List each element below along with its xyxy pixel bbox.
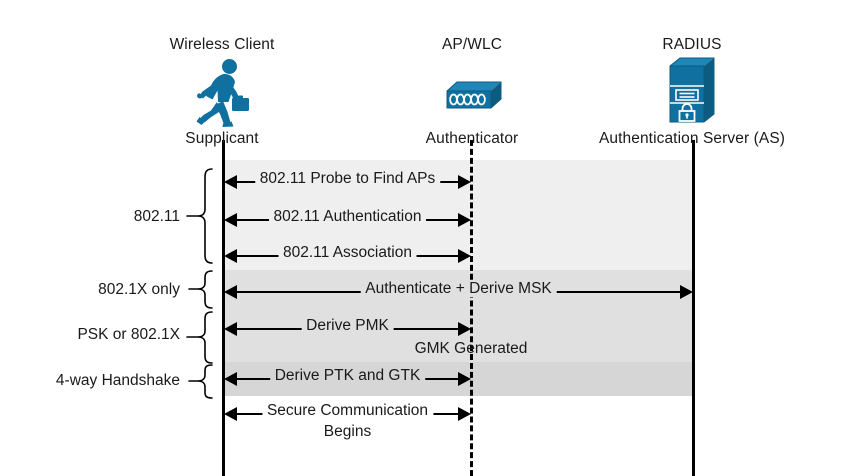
actor-title-supplicant: Wireless Client: [122, 36, 322, 54]
message-label: 802.11 Association: [278, 244, 417, 261]
lifeline-authentication-server: [692, 140, 695, 476]
message-802-11-authentication: 802.11 Authentication: [224, 211, 471, 229]
message-secure-communication: Secure Communication: [224, 405, 471, 423]
actor-role-authentication-server: Authentication Server (AS): [583, 130, 801, 148]
actor-role-supplicant: Supplicant: [142, 130, 302, 148]
arrow-head-right: [458, 175, 471, 189]
message-derive-ptk-and-gtk: Derive PTK and GTK: [224, 370, 471, 388]
message-label: Secure Communication: [262, 402, 433, 419]
server-tower-lock-icon: [664, 56, 722, 128]
phase-label-802-11: 802.11: [20, 208, 180, 226]
phase-label-4-way-handshake: 4-way Handshake: [8, 372, 180, 390]
phase-label-802-1x-only: 802.1X only: [20, 281, 180, 299]
access-point-switch-icon: [439, 80, 503, 120]
message-derive-pmk: Derive PMK: [224, 320, 471, 338]
actor-title-authenticator: AP/WLC: [372, 36, 572, 54]
phase-brace-4-way-handshake: [186, 364, 214, 400]
phase-label-psk-or-802-1x: PSK or 802.1X: [20, 326, 180, 344]
arrow-head-right: [458, 213, 471, 227]
actor-title-authentication-server: RADIUS: [592, 36, 792, 54]
arrow-head-right: [458, 372, 471, 386]
phase-brace-802-1x-only: [186, 270, 214, 310]
message-label: Derive PMK: [301, 317, 394, 334]
phase-brace-802-11: [186, 168, 214, 264]
arrow-head-right: [458, 407, 471, 421]
arrow-head-right: [458, 249, 471, 263]
note-gmk-generated: GMK Generated: [347, 340, 595, 358]
arrow-head-right: [458, 322, 471, 336]
sequence-diagram: Wireless Client: [0, 0, 858, 476]
message-secure-communication-sublabel: Begins: [224, 423, 471, 441]
message-authenticate-derive-msk: Authenticate + Derive MSK: [224, 283, 693, 301]
actor-role-authenticator: Authenticator: [392, 130, 552, 148]
message-802-11-association: 802.11 Association: [224, 247, 471, 265]
message-label: Authenticate + Derive MSK: [360, 280, 557, 297]
message-label: 802.11 Probe to Find APs: [255, 170, 441, 187]
arrow-head-right: [680, 285, 693, 299]
walking-person-briefcase-icon: [196, 58, 250, 128]
message-label: 802.11 Authentication: [269, 208, 427, 225]
phase-brace-psk-or-802-1x: [186, 311, 214, 365]
message-802-11-probe: 802.11 Probe to Find APs: [224, 173, 471, 191]
message-label: Derive PTK and GTK: [270, 367, 426, 384]
